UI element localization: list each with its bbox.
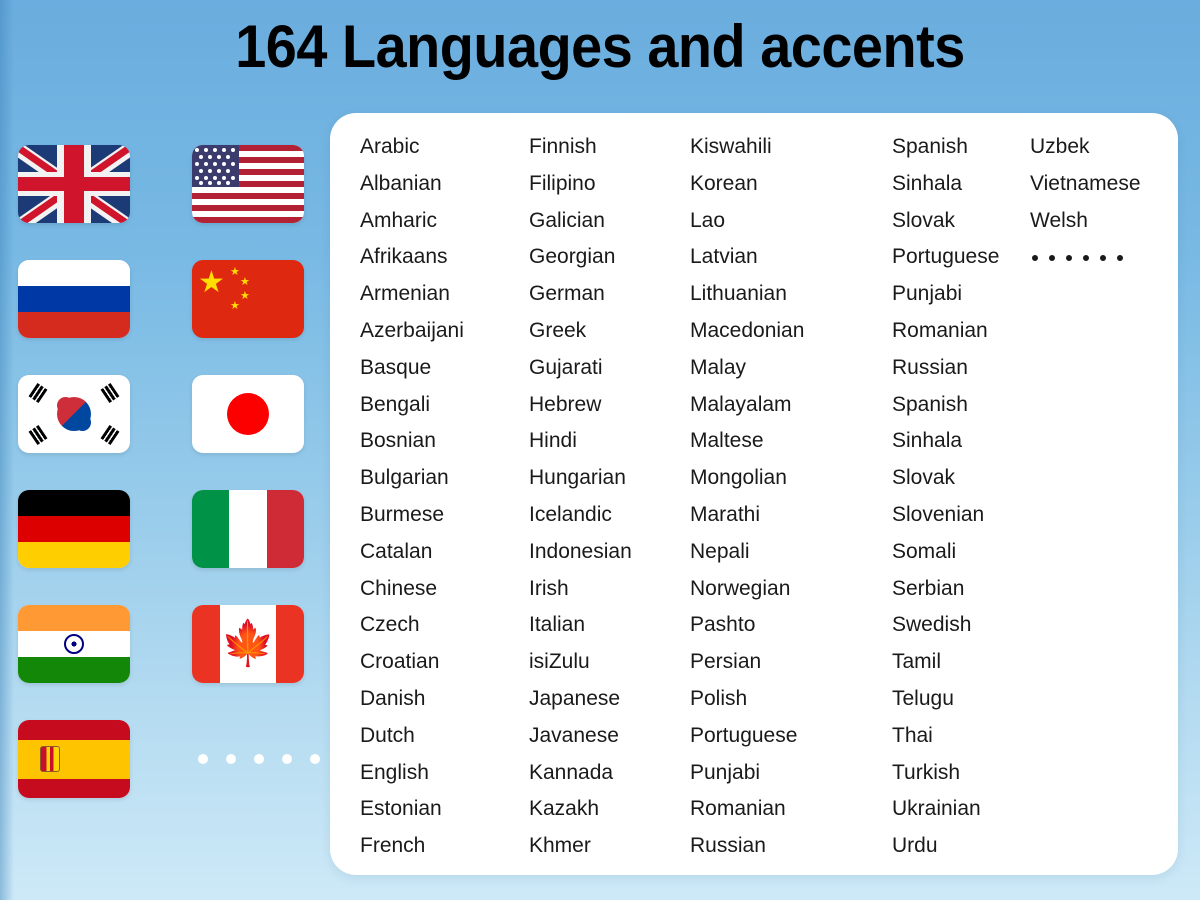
language-item[interactable]: English bbox=[360, 755, 529, 792]
language-item[interactable]: Czech bbox=[360, 607, 529, 644]
language-item[interactable]: Basque bbox=[360, 350, 529, 387]
language-item[interactable]: Lithuanian bbox=[690, 276, 892, 313]
language-item[interactable]: Japanese bbox=[529, 681, 690, 718]
flag-cell-russia bbox=[18, 251, 130, 347]
flag-row bbox=[18, 366, 318, 462]
flag-cell-united-states bbox=[192, 136, 304, 232]
language-item[interactable]: Catalan bbox=[360, 534, 529, 571]
language-item[interactable]: Kazakh bbox=[529, 791, 690, 828]
language-item[interactable]: Portuguese bbox=[690, 718, 892, 755]
language-item[interactable]: Kiswahili bbox=[690, 129, 892, 166]
flag-cell-italy bbox=[192, 481, 304, 577]
language-item[interactable]: Greek bbox=[529, 313, 690, 350]
language-item[interactable]: Somali bbox=[892, 534, 1030, 571]
china-flag-icon: ★ ★ ★ ★ ★ bbox=[192, 260, 304, 338]
flags-panel: ★ ★ ★ ★ ★ bbox=[18, 136, 318, 836]
flags-more-dots-icon bbox=[192, 711, 348, 807]
language-item[interactable]: Bulgarian bbox=[360, 460, 529, 497]
language-item[interactable]: Latvian bbox=[690, 239, 892, 276]
language-item[interactable]: Azerbaijani bbox=[360, 313, 529, 350]
language-item[interactable]: Slovenian bbox=[892, 497, 1030, 534]
language-item[interactable]: Vietnamese bbox=[1030, 166, 1178, 203]
flag-cell-united-kingdom bbox=[18, 136, 130, 232]
language-item[interactable]: Maltese bbox=[690, 423, 892, 460]
page-title: 164 Languages and accents bbox=[42, 12, 1158, 81]
language-item[interactable]: Tamil bbox=[892, 644, 1030, 681]
language-item[interactable]: Korean bbox=[690, 166, 892, 203]
language-item[interactable]: Punjabi bbox=[690, 755, 892, 792]
language-item[interactable]: Hebrew bbox=[529, 387, 690, 424]
language-item[interactable]: Bengali bbox=[360, 387, 529, 424]
flag-row: 🍁 bbox=[18, 596, 318, 692]
flag-cell-india bbox=[18, 596, 130, 692]
language-item[interactable]: Urdu bbox=[892, 828, 1030, 865]
language-item[interactable]: Gujarati bbox=[529, 350, 690, 387]
language-item[interactable]: Serbian bbox=[892, 571, 1030, 608]
language-item[interactable]: Norwegian bbox=[690, 571, 892, 608]
language-item[interactable]: Danish bbox=[360, 681, 529, 718]
language-item[interactable]: Burmese bbox=[360, 497, 529, 534]
flag-cell-japan bbox=[192, 366, 304, 462]
language-item[interactable]: Portuguese bbox=[892, 239, 1030, 276]
united-kingdom-flag-icon bbox=[18, 145, 130, 223]
languages-column-5: Uzbek Vietnamese Welsh bbox=[1030, 129, 1178, 865]
language-item[interactable]: Slovak bbox=[892, 203, 1030, 240]
language-item[interactable]: Finnish bbox=[529, 129, 690, 166]
languages-column-4: Spanish Sinhala Slovak Portuguese Punjab… bbox=[892, 129, 1030, 865]
language-item[interactable]: Spanish bbox=[892, 129, 1030, 166]
flag-row bbox=[18, 481, 318, 577]
language-item[interactable]: French bbox=[360, 828, 529, 865]
language-item[interactable]: Russian bbox=[892, 350, 1030, 387]
language-item[interactable]: Sinhala bbox=[892, 423, 1030, 460]
language-item[interactable]: Romanian bbox=[892, 313, 1030, 350]
language-item[interactable]: Uzbek bbox=[1030, 129, 1178, 166]
language-item[interactable]: Irish bbox=[529, 571, 690, 608]
language-item[interactable]: Polish bbox=[690, 681, 892, 718]
language-item[interactable]: isiZulu bbox=[529, 644, 690, 681]
language-item[interactable]: Armenian bbox=[360, 276, 529, 313]
language-item[interactable]: Persian bbox=[690, 644, 892, 681]
spain-flag-icon bbox=[18, 720, 130, 798]
language-item[interactable]: Kannada bbox=[529, 755, 690, 792]
language-item[interactable]: Javanese bbox=[529, 718, 690, 755]
language-item[interactable]: Malay bbox=[690, 350, 892, 387]
language-item[interactable]: Croatian bbox=[360, 644, 529, 681]
language-item[interactable]: Italian bbox=[529, 607, 690, 644]
flag-cell-canada: 🍁 bbox=[192, 596, 304, 692]
language-item[interactable]: Thai bbox=[892, 718, 1030, 755]
language-item[interactable]: Romanian bbox=[690, 791, 892, 828]
canada-flag-icon: 🍁 bbox=[192, 605, 304, 683]
language-item[interactable]: Lao bbox=[690, 203, 892, 240]
flag-cell-south-korea bbox=[18, 366, 130, 462]
flag-cell-spain bbox=[18, 711, 130, 807]
language-item[interactable]: German bbox=[529, 276, 690, 313]
language-item[interactable]: Chinese bbox=[360, 571, 529, 608]
languages-column-2: Finnish Filipino Galician Georgian Germa… bbox=[529, 129, 690, 865]
language-item[interactable]: Dutch bbox=[360, 718, 529, 755]
language-item[interactable]: Malayalam bbox=[690, 387, 892, 424]
language-item[interactable]: Georgian bbox=[529, 239, 690, 276]
language-item[interactable]: Arabic bbox=[360, 129, 529, 166]
india-flag-icon bbox=[18, 605, 130, 683]
language-item[interactable]: Nepali bbox=[690, 534, 892, 571]
language-item[interactable]: Macedonian bbox=[690, 313, 892, 350]
languages-more-dots-icon bbox=[1030, 239, 1178, 276]
left-edge-shading bbox=[0, 0, 14, 900]
language-item[interactable]: Indonesian bbox=[529, 534, 690, 571]
language-item[interactable]: Khmer bbox=[529, 828, 690, 865]
languages-columns: Arabic Albanian Amharic Afrikaans Armeni… bbox=[360, 129, 1178, 865]
language-item[interactable]: Pashto bbox=[690, 607, 892, 644]
language-item[interactable]: Telugu bbox=[892, 681, 1030, 718]
russia-flag-icon bbox=[18, 260, 130, 338]
language-item[interactable]: Welsh bbox=[1030, 203, 1178, 240]
languages-column-3: Kiswahili Korean Lao Latvian Lithuanian … bbox=[690, 129, 892, 865]
language-item[interactable]: Marathi bbox=[690, 497, 892, 534]
language-item[interactable]: Hungarian bbox=[529, 460, 690, 497]
flag-row: ★ ★ ★ ★ ★ bbox=[18, 251, 318, 347]
italy-flag-icon bbox=[192, 490, 304, 568]
language-item[interactable]: Icelandic bbox=[529, 497, 690, 534]
language-item[interactable]: Albanian bbox=[360, 166, 529, 203]
flag-cell-germany bbox=[18, 481, 130, 577]
language-item[interactable]: Bosnian bbox=[360, 423, 529, 460]
flag-row bbox=[18, 711, 318, 807]
united-states-flag-icon bbox=[192, 145, 304, 223]
language-item[interactable]: Turkish bbox=[892, 755, 1030, 792]
japan-flag-icon bbox=[192, 375, 304, 453]
language-item[interactable]: Afrikaans bbox=[360, 239, 529, 276]
language-item[interactable]: Amharic bbox=[360, 203, 529, 240]
flag-cell-china: ★ ★ ★ ★ ★ bbox=[192, 251, 304, 347]
language-item[interactable]: Galician bbox=[529, 203, 690, 240]
language-item[interactable]: Ukrainian bbox=[892, 791, 1030, 828]
flag-row bbox=[18, 136, 318, 232]
south-korea-flag-icon bbox=[18, 375, 130, 453]
language-item[interactable]: Hindi bbox=[529, 423, 690, 460]
language-item[interactable]: Swedish bbox=[892, 607, 1030, 644]
languages-column-1: Arabic Albanian Amharic Afrikaans Armeni… bbox=[360, 129, 529, 865]
language-item[interactable]: Slovak bbox=[892, 460, 1030, 497]
language-item[interactable]: Punjabi bbox=[892, 276, 1030, 313]
language-item[interactable]: Spanish bbox=[892, 387, 1030, 424]
language-item[interactable]: Filipino bbox=[529, 166, 690, 203]
language-item[interactable]: Russian bbox=[690, 828, 892, 865]
language-item[interactable]: Estonian bbox=[360, 791, 529, 828]
languages-card: Arabic Albanian Amharic Afrikaans Armeni… bbox=[330, 113, 1178, 875]
language-item[interactable]: Sinhala bbox=[892, 166, 1030, 203]
germany-flag-icon bbox=[18, 490, 130, 568]
language-item[interactable]: Mongolian bbox=[690, 460, 892, 497]
